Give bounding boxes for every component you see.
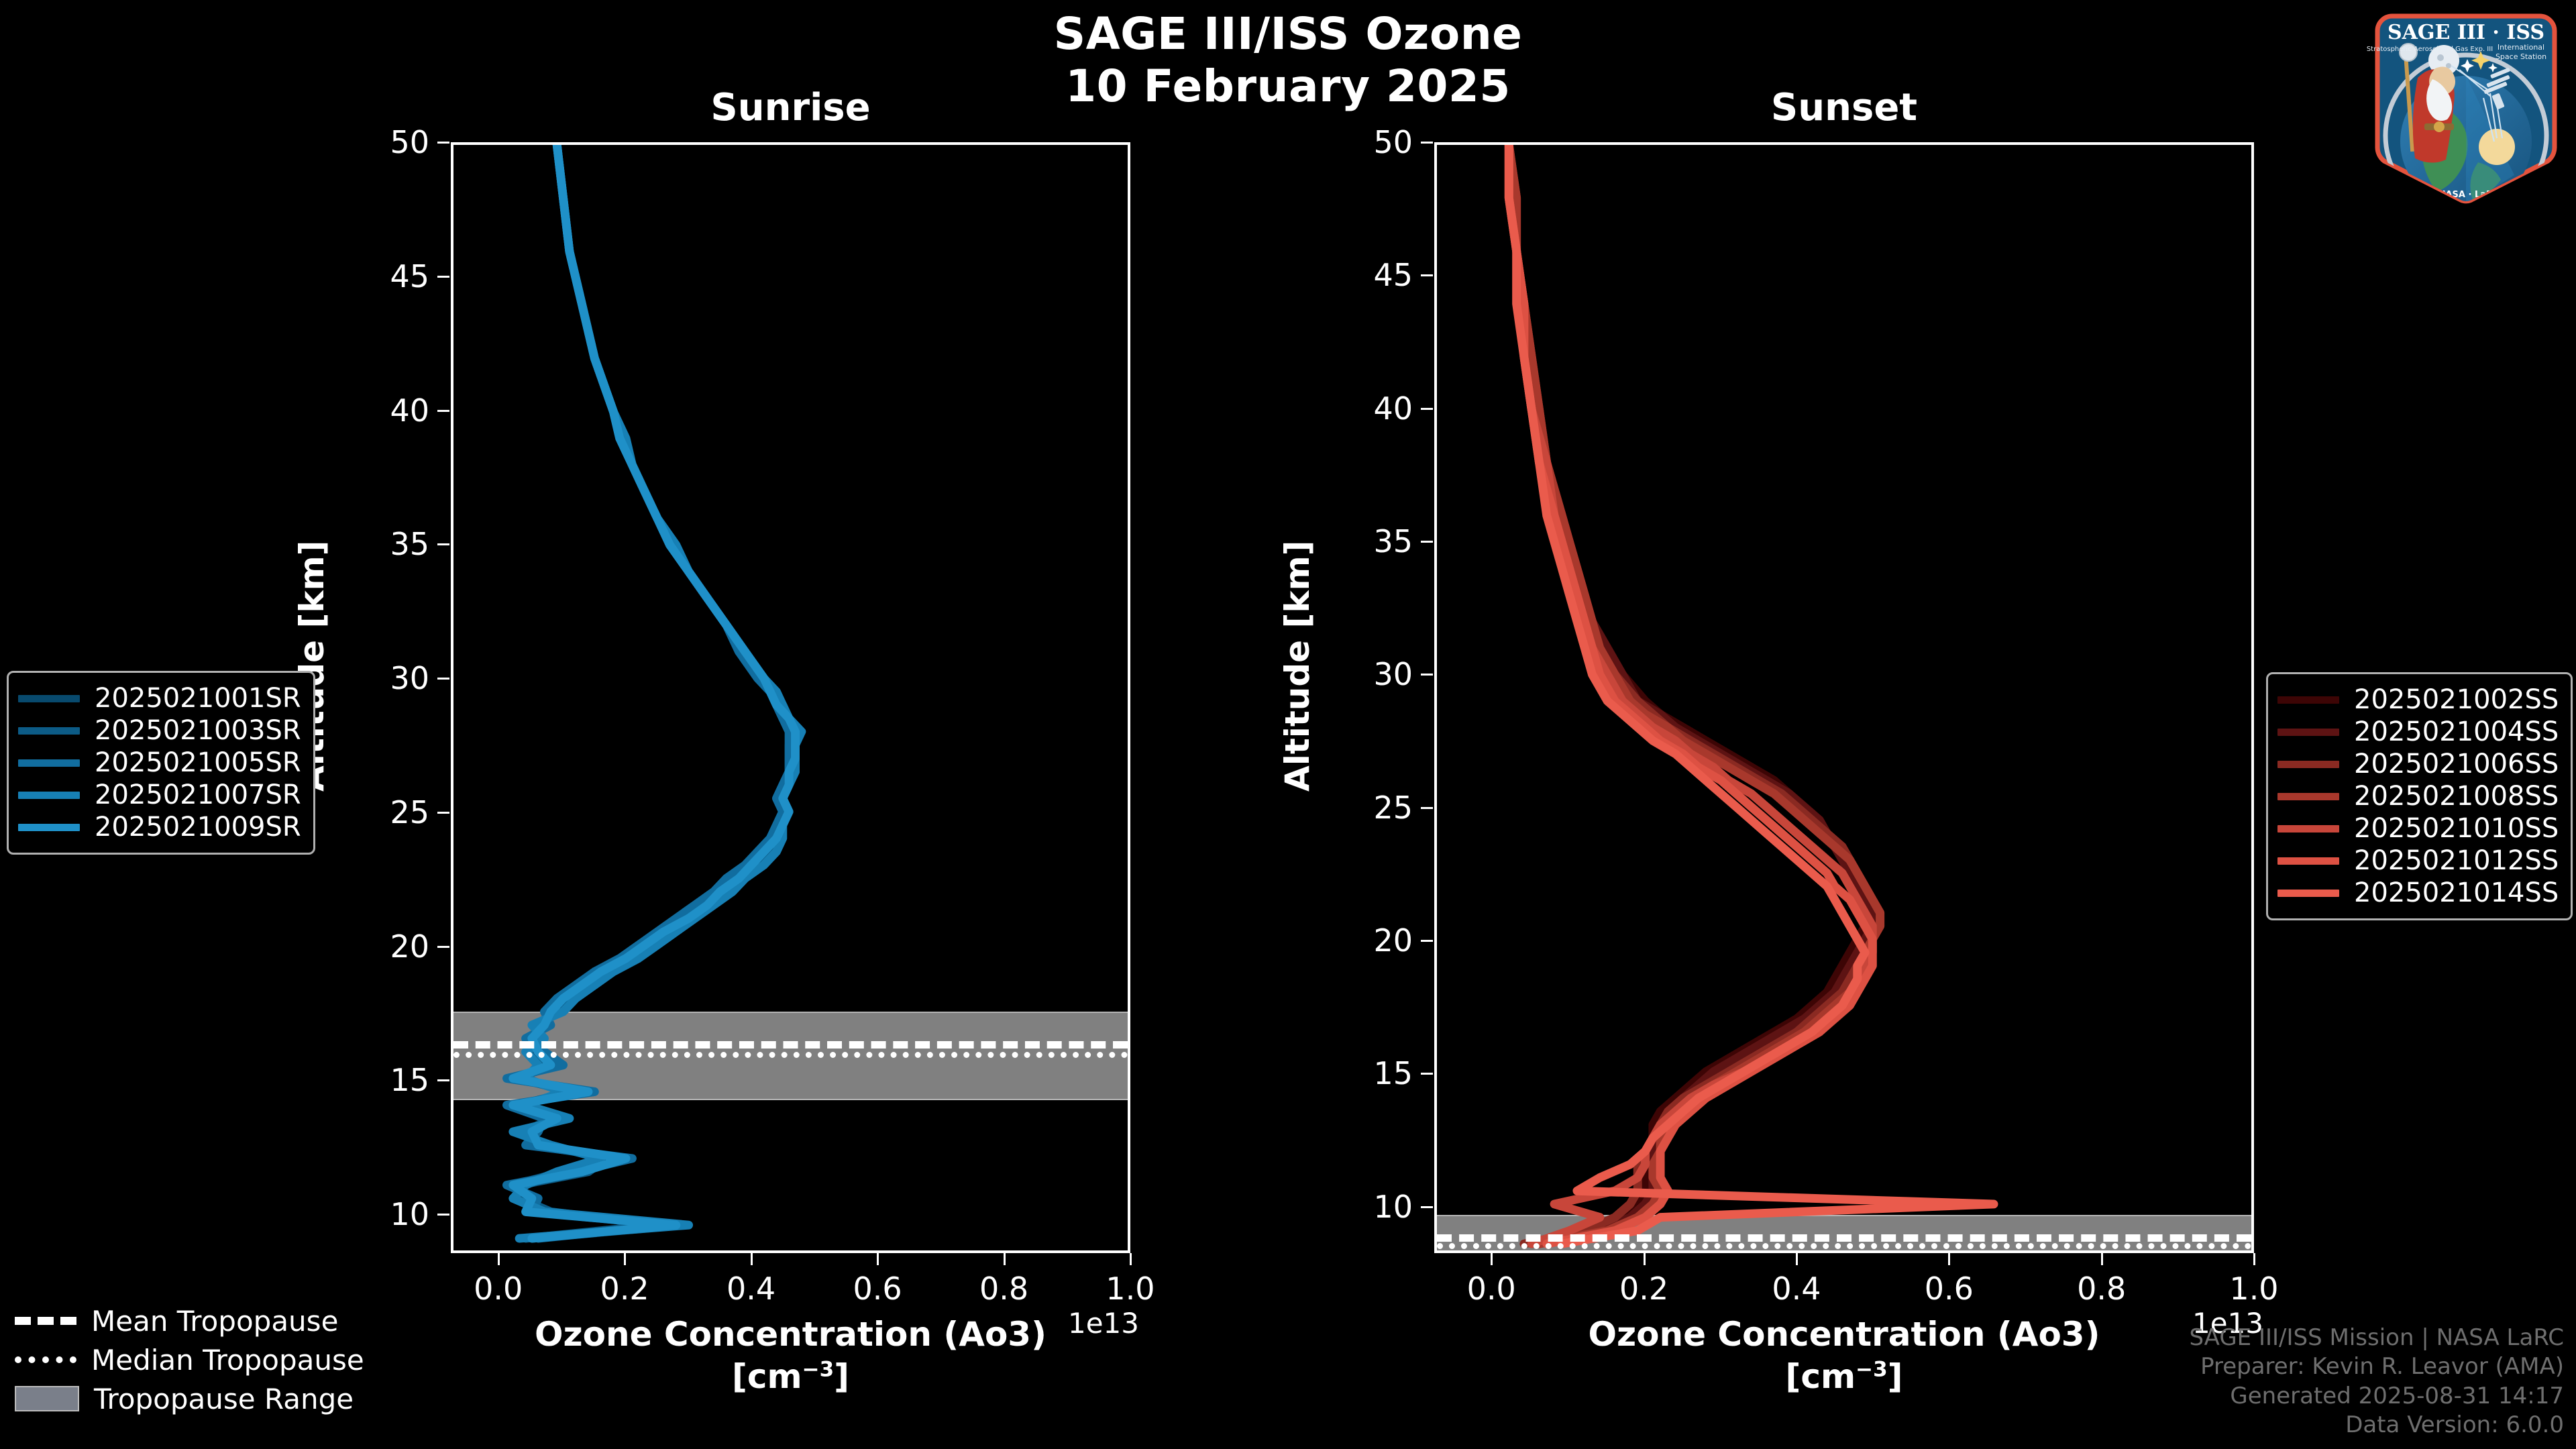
y-tick-label: 30 — [330, 660, 429, 696]
median-tropopause-line-sunset — [1437, 1243, 2251, 1249]
y-tick — [1421, 1206, 1433, 1208]
logo-title: SAGE III · ISS — [2387, 21, 2544, 44]
panel-title-sunset: Sunset — [1434, 86, 2254, 129]
y-tick-label: 10 — [1313, 1189, 1413, 1225]
plot-sunrise — [451, 142, 1130, 1253]
plot-area-sunset — [1437, 145, 2251, 1250]
legend-color-swatch — [2277, 825, 2339, 833]
x-tick — [1004, 1253, 1006, 1265]
x-tick-label: 0.0 — [1438, 1271, 1545, 1307]
series-lines-sunrise — [453, 145, 1128, 1250]
series-line — [1509, 145, 1994, 1244]
median-tropopause-line-sunrise — [453, 1052, 1128, 1058]
legend-item-2025021006SS[interactable]: 2025021006SS — [2277, 748, 2559, 780]
y-tick-label: 45 — [330, 258, 429, 294]
legend-item-label: 2025021002SS — [2354, 684, 2559, 715]
x-tick-label: 1.0 — [1077, 1271, 1184, 1307]
x-tick — [498, 1253, 500, 1265]
y-tick — [437, 812, 449, 814]
x-tick — [877, 1253, 879, 1265]
series-line — [513, 145, 796, 1238]
x-tick-label: 1.0 — [2200, 1271, 2308, 1307]
x-tick — [751, 1253, 753, 1265]
panel-title-sunrise: Sunrise — [451, 86, 1130, 129]
y-tick — [1421, 541, 1433, 543]
y-tick-label: 40 — [1313, 390, 1413, 427]
series-line — [1509, 145, 1872, 1244]
x-tick — [2101, 1253, 2103, 1265]
y-tick — [437, 1079, 449, 1081]
tropopause-legend-swatch-patch — [15, 1386, 79, 1411]
legend-item-2025021010SS[interactable]: 2025021010SS — [2277, 812, 2559, 845]
legend-item-2025021007SR[interactable]: 2025021007SR — [18, 779, 301, 811]
legend-item-2025021012SS[interactable]: 2025021012SS — [2277, 845, 2559, 877]
tropopause-legend-label: Mean Tropopause — [91, 1305, 338, 1338]
y-tick — [1421, 274, 1433, 276]
x-tick-label: 0.8 — [2048, 1271, 2155, 1307]
legend-color-swatch — [2277, 696, 2339, 704]
legend-item-2025021005SR[interactable]: 2025021005SR — [18, 747, 301, 779]
sage-iii-iss-mission-patch-icon: BALL · NASA · LaRC · ESA SAGE III · ISS … — [2365, 4, 2567, 205]
x-tick — [2253, 1253, 2255, 1265]
legend-item-label: 2025021009SR — [95, 812, 301, 843]
x-tick-label: 0.2 — [1591, 1271, 1698, 1307]
y-tick-label: 40 — [330, 392, 429, 429]
y-tick-label: 45 — [1313, 257, 1413, 293]
mean-tropopause-line-sunrise — [453, 1041, 1128, 1049]
legend-item-label: 2025021007SR — [95, 780, 301, 810]
series-line — [1509, 145, 1872, 1244]
y-tick-label: 15 — [1313, 1055, 1413, 1091]
y-tick — [437, 543, 449, 545]
logo-subtitle-left: Stratospheric Aerosol and Gas Exp. III — [2367, 46, 2493, 53]
x-axis-label-sunrise: Ozone Concentration (Ao3)[cm−3] — [451, 1313, 1130, 1398]
tropopause-legend[interactable]: Mean TropopauseMedian TropopauseTropopau… — [15, 1301, 364, 1418]
y-tick — [437, 678, 449, 680]
legend-item-label: 2025021008SS — [2354, 781, 2559, 812]
y-tick — [1421, 1073, 1433, 1075]
y-tick — [437, 410, 449, 412]
legend-sunset[interactable]: 2025021002SS2025021004SS2025021006SS2025… — [2266, 672, 2573, 920]
series-line — [1509, 145, 1872, 1244]
tropopause-legend-item-dotted[interactable]: Median Tropopause — [15, 1340, 364, 1379]
x-tick — [1948, 1253, 1950, 1265]
legend-item-label: 2025021014SS — [2354, 877, 2559, 908]
logo-subtitle-right-2: Space Station — [2495, 52, 2546, 61]
legend-item-label: 2025021001SR — [95, 683, 301, 714]
y-tick-label: 30 — [1313, 656, 1413, 692]
tropopause-legend-swatch-dotted — [15, 1356, 76, 1363]
series-line — [519, 145, 795, 1238]
legend-item-label: 2025021006SS — [2354, 749, 2559, 780]
y-tick — [1421, 940, 1433, 942]
y-tick — [437, 276, 449, 278]
y-tick — [437, 946, 449, 948]
x-axis-offset-sunrise: 1e13 — [1068, 1307, 1139, 1340]
legend-item-label: 2025021012SS — [2354, 845, 2559, 876]
legend-color-swatch — [18, 792, 80, 799]
y-tick — [437, 142, 449, 144]
x-tick-label: 0.6 — [824, 1271, 931, 1307]
legend-item-2025021014SS[interactable]: 2025021014SS — [2277, 877, 2559, 909]
x-tick — [624, 1253, 626, 1265]
series-line — [506, 145, 789, 1238]
legend-item-2025021004SS[interactable]: 2025021004SS — [2277, 716, 2559, 748]
legend-color-swatch — [2277, 729, 2339, 736]
y-tick-label: 50 — [1313, 124, 1413, 160]
y-tick-label: 10 — [330, 1196, 429, 1232]
tropopause-legend-item-patch[interactable]: Tropopause Range — [15, 1379, 364, 1418]
x-tick-label: 0.4 — [1743, 1271, 1850, 1307]
x-tick-label: 0.2 — [571, 1271, 678, 1307]
y-tick-label: 20 — [1313, 922, 1413, 959]
x-axis-label-sunset: Ozone Concentration (Ao3)[cm−3] — [1434, 1313, 2254, 1398]
y-tick-label: 25 — [330, 794, 429, 830]
series-line — [1509, 145, 1872, 1244]
y-tick — [437, 1214, 449, 1216]
series-line — [513, 145, 796, 1238]
y-axis-label-sunset: Altitude [km] — [1278, 540, 1317, 792]
x-tick — [1644, 1253, 1646, 1265]
x-tick — [1130, 1253, 1132, 1265]
y-tick — [1421, 674, 1433, 676]
logo-ring-text: BALL · NASA · LaRC · ESA — [2404, 190, 2528, 200]
y-tick-label: 35 — [330, 526, 429, 562]
legend-color-swatch — [18, 824, 80, 831]
tropopause-legend-item-dashed[interactable]: Mean Tropopause — [15, 1301, 364, 1340]
x-tick — [1491, 1253, 1493, 1265]
plot-area-sunrise — [453, 145, 1128, 1250]
tropopause-legend-label: Tropopause Range — [94, 1383, 354, 1415]
y-tick-label: 35 — [1313, 523, 1413, 559]
x-tick-label: 0.4 — [698, 1271, 805, 1307]
series-lines-sunset — [1437, 145, 2251, 1250]
legend-item-label: 2025021005SR — [95, 747, 301, 778]
y-tick-label: 25 — [1313, 790, 1413, 826]
legend-color-swatch — [18, 727, 80, 735]
legend-item-2025021009SR[interactable]: 2025021009SR — [18, 811, 301, 843]
legend-color-swatch — [18, 759, 80, 767]
legend-color-swatch — [2277, 761, 2339, 768]
legend-item-label: 2025021003SR — [95, 715, 301, 746]
y-tick-label: 50 — [330, 124, 429, 160]
tropopause-legend-swatch-dashed — [15, 1317, 76, 1325]
legend-color-swatch — [2277, 890, 2339, 897]
legend-item-2025021002SS[interactable]: 2025021002SS — [2277, 684, 2559, 716]
legend-item-2025021003SR[interactable]: 2025021003SR — [18, 714, 301, 747]
x-tick-label: 0.8 — [951, 1271, 1058, 1307]
y-tick-label: 15 — [330, 1062, 429, 1098]
logo-subtitle-right-1: International — [2498, 43, 2544, 52]
plot-sunset — [1434, 142, 2254, 1253]
y-tick — [1421, 142, 1433, 144]
legend-color-swatch — [18, 695, 80, 702]
legend-item-2025021008SS[interactable]: 2025021008SS — [2277, 780, 2559, 812]
x-tick-label: 0.6 — [1895, 1271, 2002, 1307]
x-tick-label: 0.0 — [445, 1271, 552, 1307]
y-tick — [1421, 408, 1433, 410]
legend-color-swatch — [2277, 793, 2339, 800]
legend-item-label: 2025021004SS — [2354, 716, 2559, 747]
series-line — [513, 145, 802, 1238]
tropopause-legend-label: Median Tropopause — [91, 1344, 364, 1377]
legend-item-label: 2025021010SS — [2354, 813, 2559, 844]
legend-color-swatch — [2277, 857, 2339, 865]
y-tick-label: 20 — [330, 928, 429, 965]
footer-credits: SAGE III/ISS Mission | NASA LaRC Prepare… — [2189, 1324, 2564, 1440]
mean-tropopause-line-sunset — [1437, 1234, 2251, 1242]
y-tick — [1421, 807, 1433, 809]
x-tick — [1796, 1253, 1798, 1265]
legend-sunrise[interactable]: 2025021001SR2025021003SR2025021005SR2025… — [7, 671, 315, 855]
legend-item-2025021001SR[interactable]: 2025021001SR — [18, 682, 301, 714]
